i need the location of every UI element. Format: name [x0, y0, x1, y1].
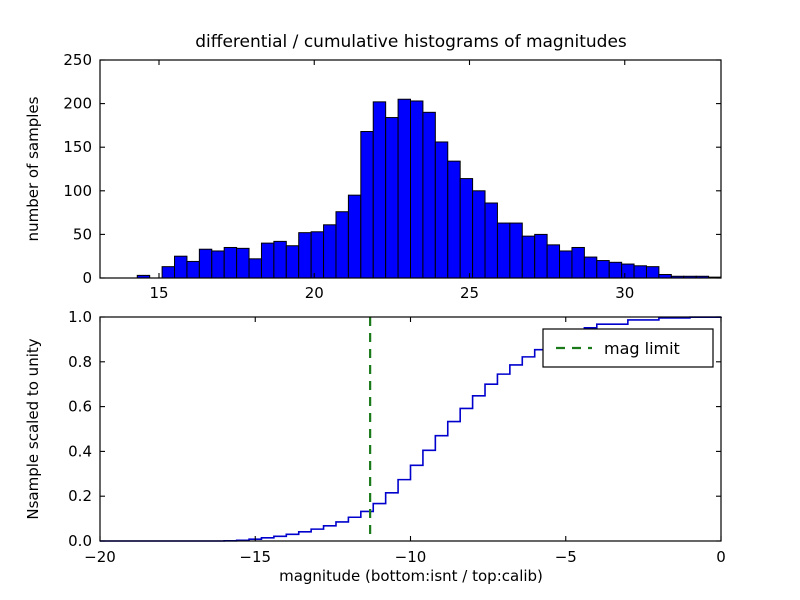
histogram-bar	[473, 191, 485, 278]
legend-label-mag-limit: mag limit	[604, 339, 680, 358]
top-x-tick-label: 15	[149, 284, 168, 302]
histogram-bar	[336, 212, 348, 278]
bottom-y-tick-label: 0.4	[68, 442, 92, 460]
top-y-tick-label: 50	[73, 225, 92, 243]
histogram-bar	[460, 179, 472, 278]
histogram-bar	[547, 245, 559, 278]
bottom-x-tick-label: −10	[395, 548, 427, 566]
histogram-bar	[597, 261, 609, 278]
histogram-bar	[510, 223, 522, 278]
bottom-y-tick-label: 0.0	[68, 532, 92, 550]
top-y-axis-label: number of samples	[24, 96, 42, 241]
histogram-bar	[237, 248, 249, 278]
histogram-bar	[535, 234, 547, 278]
matplotlib-figure: differential / cumulative histograms of …	[0, 0, 800, 600]
histogram-bar	[274, 241, 286, 278]
top-y-tick-label: 250	[63, 51, 92, 69]
bottom-y-tick-label: 0.6	[68, 398, 92, 416]
histogram-bar	[324, 225, 336, 278]
histogram-bar	[361, 132, 373, 279]
figure-canvas: differential / cumulative histograms of …	[0, 0, 800, 600]
histogram-bar	[398, 99, 410, 278]
bottom-y-tick-label: 0.2	[68, 487, 92, 505]
top-x-tick-label: 25	[460, 284, 479, 302]
top-x-tick-label: 30	[615, 284, 634, 302]
top-y-tick-label: 0	[82, 269, 92, 287]
histogram-bar	[386, 118, 398, 278]
bottom-x-tick-label: 0	[716, 548, 726, 566]
legend[interactable]: mag limit	[543, 329, 713, 367]
bottom-x-tick-label: −5	[555, 548, 577, 566]
bottom-x-tick-label: −20	[84, 548, 116, 566]
bottom-y-tick-label: 0.8	[68, 353, 92, 371]
histogram-bar	[622, 264, 634, 278]
top-axes-differential-histogram: differential / cumulative histograms of …	[24, 32, 721, 302]
x-axis-label: magnitude (bottom:isnt / top:calib)	[279, 567, 543, 585]
histogram-bar	[199, 249, 211, 278]
histogram-bar	[175, 256, 187, 278]
top-y-tick-label: 200	[63, 95, 92, 113]
histogram-bar	[411, 101, 423, 278]
histogram-bar	[497, 223, 509, 278]
top-x-tick-label: 20	[305, 284, 324, 302]
histogram-bar	[286, 246, 298, 278]
histogram-bar	[522, 236, 534, 278]
top-y-tick-label: 150	[63, 138, 92, 156]
histogram-bar	[348, 195, 360, 278]
histogram-bar	[187, 261, 199, 278]
top-y-tick-label: 100	[63, 182, 92, 200]
histogram-bar	[646, 267, 658, 278]
histogram-bar	[435, 142, 447, 278]
histogram-bar	[299, 233, 311, 278]
histogram-bar	[423, 112, 435, 278]
bottom-y-tick-label: 1.0	[68, 308, 92, 326]
histogram-bar	[584, 257, 596, 278]
histogram-bar	[162, 267, 174, 278]
bottom-x-tick-label: −15	[239, 548, 271, 566]
histogram-bar	[261, 243, 273, 278]
histogram-bar	[249, 259, 261, 278]
histogram-bar	[485, 203, 497, 278]
histogram-bar	[572, 247, 584, 278]
bottom-y-axis-label: Nsample scaled to unity	[24, 338, 42, 519]
histogram-bar	[311, 232, 323, 278]
chart-title: differential / cumulative histograms of …	[195, 32, 627, 52]
histogram-bar	[373, 102, 385, 278]
histogram-bar	[634, 266, 646, 278]
histogram-bar	[448, 161, 460, 278]
histogram-bar	[609, 262, 621, 278]
histogram-bar	[560, 251, 572, 278]
histogram-bar	[212, 251, 224, 278]
histogram-bar	[224, 247, 236, 278]
